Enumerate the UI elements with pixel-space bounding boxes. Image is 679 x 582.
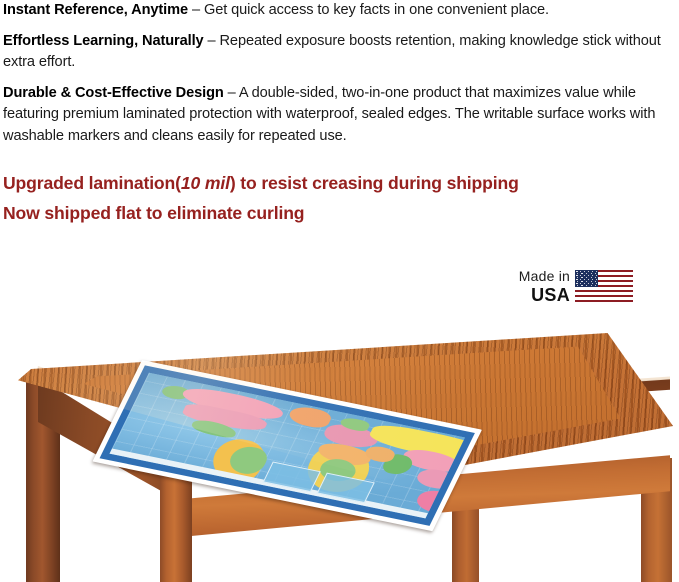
promo-line-lamination: Upgraded lamination(10 mil) to resist cr… — [3, 168, 675, 198]
made-in-label: Made in — [519, 269, 570, 283]
feature-item: Instant Reference, Anytime – Get quick a… — [3, 0, 675, 22]
table-leg-front-left — [160, 470, 192, 582]
flag-canton — [575, 270, 598, 288]
made-in-usa-badge: Made in USA — [503, 262, 633, 310]
feature-lead: Instant Reference, Anytime — [3, 2, 188, 18]
feature-body: – Get quick access to key facts in one c… — [188, 2, 549, 18]
promo-line1-suffix: ) to resist creasing during shipping — [230, 173, 519, 193]
feature-lead: Durable & Cost-Effective Design — [3, 85, 224, 101]
made-in-usa-text: Made in USA — [519, 269, 570, 304]
feature-list: Instant Reference, Anytime – Get quick a… — [3, 0, 675, 156]
promo-line1-emphasis: 10 mil — [181, 173, 230, 193]
feature-item: Durable & Cost-Effective Design – A doub… — [3, 83, 675, 148]
promo-block: Upgraded lamination(10 mil) to resist cr… — [3, 168, 675, 228]
usa-flag-icon — [575, 270, 633, 303]
usa-label: USA — [531, 286, 570, 304]
product-photo — [0, 330, 679, 582]
feature-lead: Effortless Learning, Naturally — [3, 33, 204, 49]
promo-line1-prefix: Upgraded lamination( — [3, 173, 181, 193]
feature-item: Effortless Learning, Naturally – Repeate… — [3, 31, 675, 74]
promo-line-shipped-flat: Now shipped flat to eliminate curling — [3, 198, 675, 228]
